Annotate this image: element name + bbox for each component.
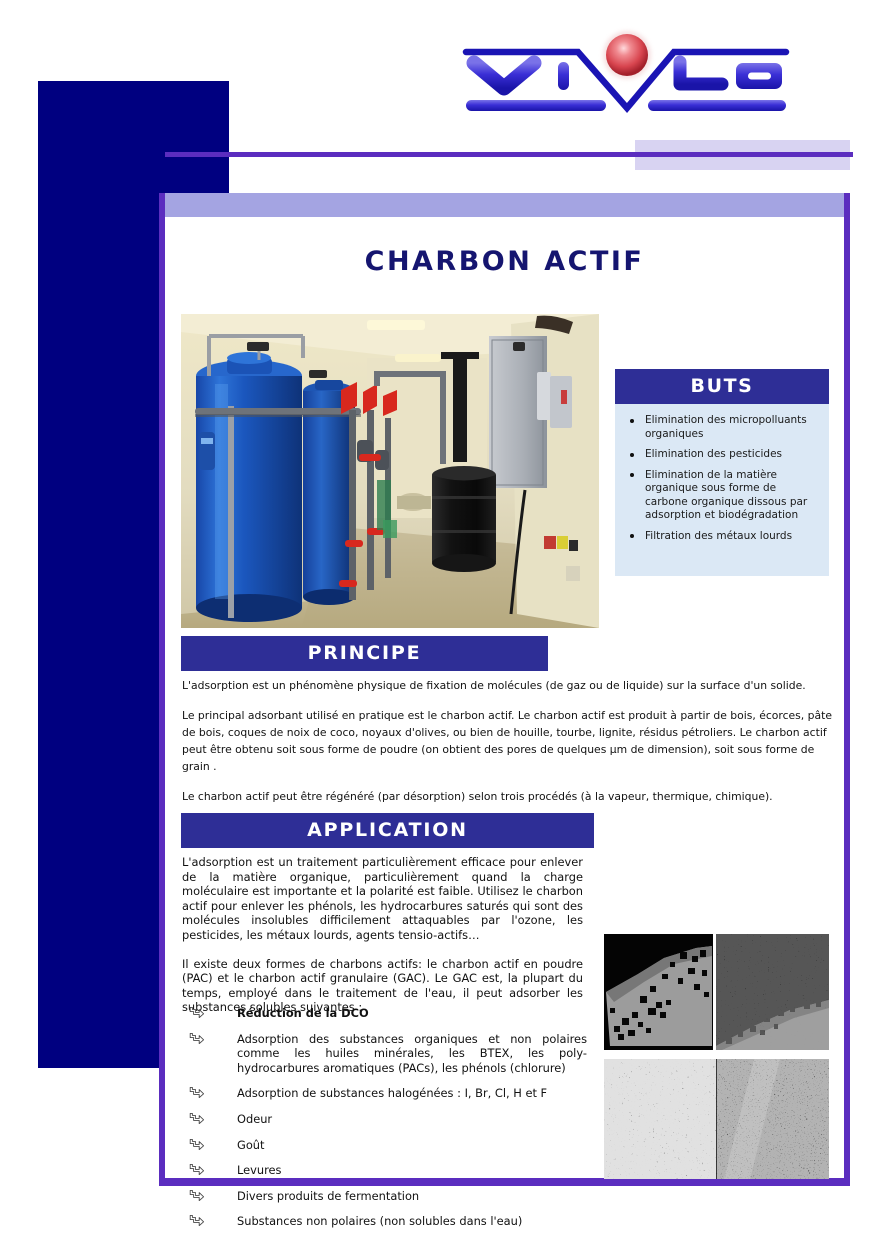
buts-item-text: Elimination de la matière organique sous… xyxy=(645,469,807,522)
list-item: Elimination des pesticides xyxy=(623,448,821,462)
list-item: Filtration des métaux lourds xyxy=(623,530,821,544)
application-section-header: APPLICATION xyxy=(181,813,594,848)
list-item: Substances non polaires (non solubles da… xyxy=(187,1214,587,1229)
principe-body: L'adsorption est un phénomène physique d… xyxy=(182,677,842,818)
buts-body: Elimination des micropolluants organique… xyxy=(615,404,829,576)
buts-list: Elimination des micropolluants organique… xyxy=(623,414,821,543)
activated-carbon-micrograph-top xyxy=(604,934,829,1050)
activated-carbon-micrograph-bottom xyxy=(604,1059,829,1179)
bullet-dot-icon xyxy=(630,534,634,538)
quill-arrow-icon xyxy=(187,1031,207,1049)
quill-arrow-icon xyxy=(187,1085,207,1103)
principe-section-header: PRINCIPE xyxy=(181,636,548,671)
frame-body: CHARBON ACTIF xyxy=(165,217,844,1178)
frame-top-band xyxy=(165,193,844,217)
substance-text: Adsorption de substances halogénées : I,… xyxy=(237,1086,547,1100)
substance-text: Odeur xyxy=(237,1112,272,1126)
list-item: Odeur xyxy=(187,1112,587,1127)
header-purple-rule xyxy=(165,152,853,157)
list-item: Elimination de la matière organique sous… xyxy=(623,469,821,523)
application-substances-list: Réduction de la DCO Adsorption des subst… xyxy=(187,1006,587,1240)
substance-text: Divers produits de fermentation xyxy=(237,1189,419,1203)
list-item: Goût xyxy=(187,1138,587,1153)
substance-text: Levures xyxy=(237,1163,282,1177)
vivlo-logo xyxy=(452,22,830,132)
quill-arrow-icon xyxy=(187,1162,207,1180)
list-item: Adsorption des substances organiques et … xyxy=(187,1032,587,1076)
bullet-dot-icon xyxy=(630,473,634,477)
list-item: Levures xyxy=(187,1163,587,1178)
bullet-dot-icon xyxy=(630,453,634,457)
substance-text: Substances non polaires (non solubles da… xyxy=(237,1214,522,1228)
list-item: Elimination des micropolluants organique… xyxy=(623,414,821,441)
quill-arrow-icon xyxy=(187,1213,207,1231)
quill-arrow-icon xyxy=(187,1137,207,1155)
content-frame: CHARBON ACTIF xyxy=(159,193,850,1186)
paragraph: Le principal adsorbant utilisé en pratiq… xyxy=(182,707,842,775)
buts-item-text: Filtration des métaux lourds xyxy=(645,530,792,542)
quill-arrow-icon xyxy=(187,1005,207,1023)
buts-item-text: Elimination des pesticides xyxy=(645,448,782,460)
list-item: Divers produits de fermentation xyxy=(187,1189,587,1204)
quill-arrow-icon xyxy=(187,1188,207,1206)
substance-text: Goût xyxy=(237,1138,264,1152)
substance-text: Adsorption des substances organiques et … xyxy=(237,1032,587,1075)
buts-panel: BUTS Elimination des micropolluants orga… xyxy=(615,369,829,576)
paragraph: L'adsorption est un traitement particuli… xyxy=(182,855,583,943)
bullet-dot-icon xyxy=(630,419,634,423)
quill-arrow-icon xyxy=(187,1111,207,1129)
application-body: L'adsorption est un traitement particuli… xyxy=(182,855,583,1029)
page-title: CHARBON ACTIF xyxy=(165,246,844,277)
activated-carbon-filtration-plant-photo xyxy=(181,314,599,628)
buts-header: BUTS xyxy=(615,369,829,404)
list-item: Adsorption de substances halogénées : I,… xyxy=(187,1086,587,1101)
list-item: Réduction de la DCO xyxy=(187,1006,587,1021)
buts-item-text: Elimination des micropolluants organique… xyxy=(645,414,807,440)
substance-text: Réduction de la DCO xyxy=(237,1006,369,1020)
paragraph: Le charbon actif peut être régénéré (par… xyxy=(182,788,842,805)
micrographs-group xyxy=(604,934,829,1179)
paragraph: L'adsorption est un phénomène physique d… xyxy=(182,677,842,694)
